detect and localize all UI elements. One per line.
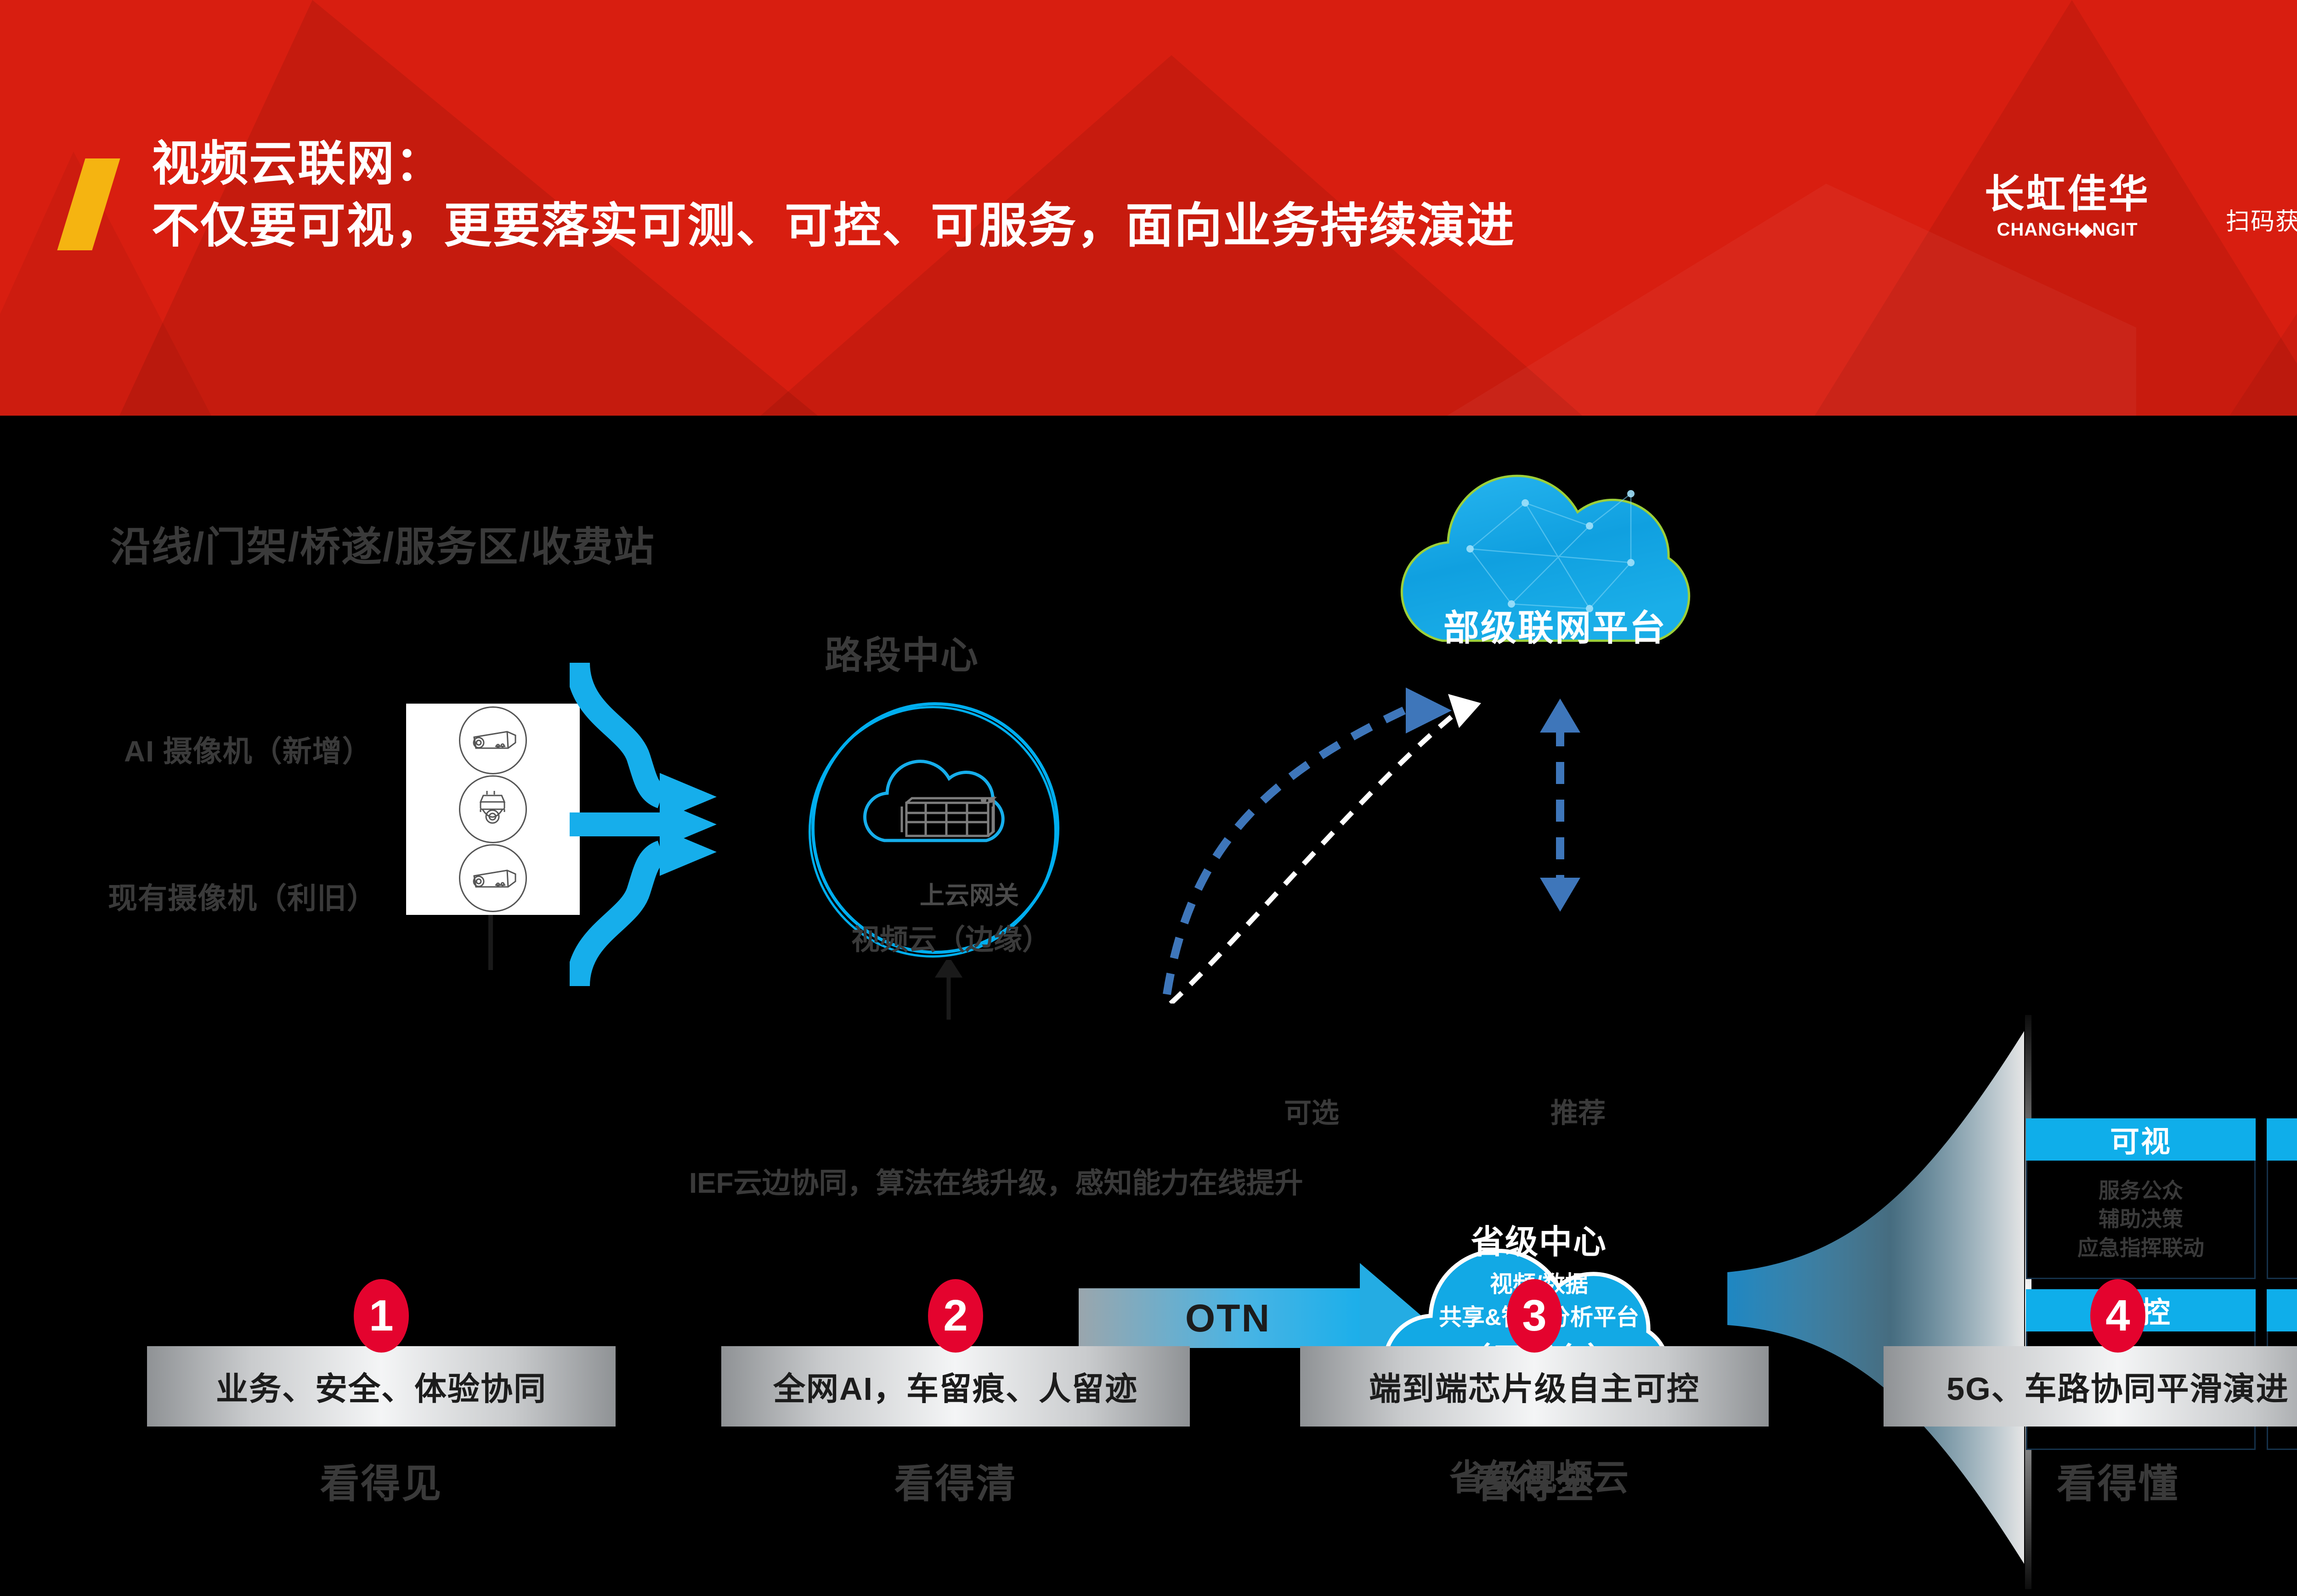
pillar-caption: 看得懂 bbox=[1833, 1451, 2297, 1509]
pillar-plaque[interactable]: 端到端芯片级自主可控 bbox=[1300, 1346, 1769, 1427]
white-dashed-path bbox=[1171, 711, 1459, 1004]
capability-line: 服务公众 bbox=[2099, 1176, 2183, 1205]
brand-logo-en-left: CHANGH bbox=[1997, 220, 2080, 240]
zone-label: 沿线/门架/桥遂/服务区/收费站 bbox=[110, 514, 655, 573]
brand-logo-en: CHANGHNGIT bbox=[1971, 220, 2164, 239]
capability-card-kece[interactable]: 可测 路网事件研判 交通流量预测 bbox=[2267, 1118, 2297, 1279]
pillar-3: 3 端到端芯片级自主可控 看得全 bbox=[1250, 1279, 1819, 1509]
qr-caption: 扫码获取详细资料 bbox=[2226, 202, 2297, 237]
brand-logo-en-right: NGIT bbox=[2092, 220, 2138, 240]
camera-stack bbox=[406, 704, 580, 915]
page-header: 视频云联网： 不仅要可视，更要落实可测、可控、可服务，面向业务持续演进 长虹佳华… bbox=[0, 0, 2297, 416]
pillar-plaque[interactable]: 业务、安全、体验协同 bbox=[147, 1346, 616, 1427]
capability-title: 可视 bbox=[2026, 1118, 2256, 1161]
page-title: 视频云联网： 不仅要可视，更要落实可测、可控、可服务，面向业务持续演进 bbox=[152, 133, 1515, 257]
gateway-label: 上云网关 bbox=[864, 875, 1075, 911]
province-title: 省级中心 bbox=[1374, 1215, 1704, 1263]
pillar-badge: 2 bbox=[928, 1279, 983, 1353]
brand-logo-cn: 长虹佳华 bbox=[1971, 175, 2164, 214]
optional-arrowhead-icon bbox=[1406, 688, 1452, 733]
edge-cloud-label: 视频云（边缘） bbox=[832, 916, 1070, 958]
pillar-2: 2 全网AI，车留痕、人留迹 看得清 bbox=[671, 1279, 1240, 1509]
legacy-bullet-camera-icon bbox=[459, 844, 527, 912]
pillar-1: 1 业务、安全、体验协同 看得见 bbox=[96, 1279, 666, 1509]
connector-arrows bbox=[1148, 590, 1654, 1004]
diagram-stage: 沿线/门架/桥遂/服务区/收费站 AI 摄像机（新增） 现有摄像机（利旧） bbox=[0, 416, 2297, 1596]
pillar-badge: 1 bbox=[354, 1279, 409, 1353]
pillar-plaque-label: 业务、安全、体验协同 bbox=[216, 1363, 547, 1410]
ptz-dome-camera-icon bbox=[459, 775, 527, 843]
camera-pole bbox=[488, 915, 493, 970]
ief-note: IEF云边协同，算法在线升级，感知能力在线提升 bbox=[689, 1160, 1303, 1201]
capability-line: 应急指挥联动 bbox=[2077, 1234, 2204, 1262]
road-center-label: 路段中心 bbox=[825, 625, 979, 679]
white-arrowhead-icon bbox=[1448, 694, 1481, 728]
diamond-icon bbox=[2079, 224, 2093, 238]
optional-path bbox=[1167, 710, 1406, 994]
brand-logo: 长虹佳华 CHANGHNGIT bbox=[1971, 175, 2164, 239]
recommended-label: 推荐 bbox=[1550, 1091, 1606, 1131]
edge-uplink-arrow-icon bbox=[935, 960, 962, 1022]
pillar-plaque[interactable]: 全网AI，车留痕、人留迹 bbox=[721, 1346, 1190, 1427]
bullet-camera-icon bbox=[459, 706, 527, 774]
camera-new-label: AI 摄像机（新增） bbox=[124, 728, 372, 770]
pillar-plaque[interactable]: 5G、车路协同平滑演进 bbox=[1884, 1346, 2297, 1427]
title-line-1: 视频云联网： bbox=[152, 133, 1515, 195]
optional-label: 可选 bbox=[1284, 1091, 1339, 1131]
pillar-4: 4 5G、车路协同平滑演进 看得懂 bbox=[1833, 1279, 2297, 1509]
capability-body: 服务公众 辅助决策 应急指挥联动 bbox=[2026, 1161, 2256, 1279]
capability-body: 路网事件研判 交通流量预测 bbox=[2267, 1161, 2297, 1279]
recommended-bidirectional-arrow-icon bbox=[1540, 699, 1580, 912]
camera-old-label: 现有摄像机（利旧） bbox=[108, 875, 377, 917]
pillar-badge: 3 bbox=[1507, 1279, 1562, 1353]
capability-title: 可测 bbox=[2267, 1118, 2297, 1161]
pillar-caption: 看得全 bbox=[1250, 1451, 1819, 1509]
header-facet-4 bbox=[2228, 69, 2297, 416]
pillar-plaque-label: 端到端芯片级自主可控 bbox=[1369, 1363, 1700, 1410]
capability-line: 辅助决策 bbox=[2099, 1205, 2183, 1233]
edge-cloud-icon bbox=[852, 749, 1036, 870]
title-line-2: 不仅要可视，更要落实可测、可控、可服务，面向业务持续演进 bbox=[152, 195, 1515, 257]
pillar-badge: 4 bbox=[2090, 1279, 2145, 1353]
pillar-row: 1 业务、安全、体验协同 看得见 2 全网AI，车留痕、人留迹 看得清 3 端到… bbox=[0, 1279, 2297, 1596]
pillar-caption: 看得清 bbox=[671, 1451, 1240, 1509]
pillar-plaque-label: 全网AI，车留痕、人留迹 bbox=[773, 1363, 1138, 1410]
pillar-plaque-label: 5G、车路协同平滑演进 bbox=[1946, 1363, 2289, 1410]
pillar-caption: 看得见 bbox=[96, 1451, 666, 1509]
capability-card-keshi[interactable]: 可视 服务公众 辅助决策 应急指挥联动 bbox=[2026, 1118, 2256, 1279]
